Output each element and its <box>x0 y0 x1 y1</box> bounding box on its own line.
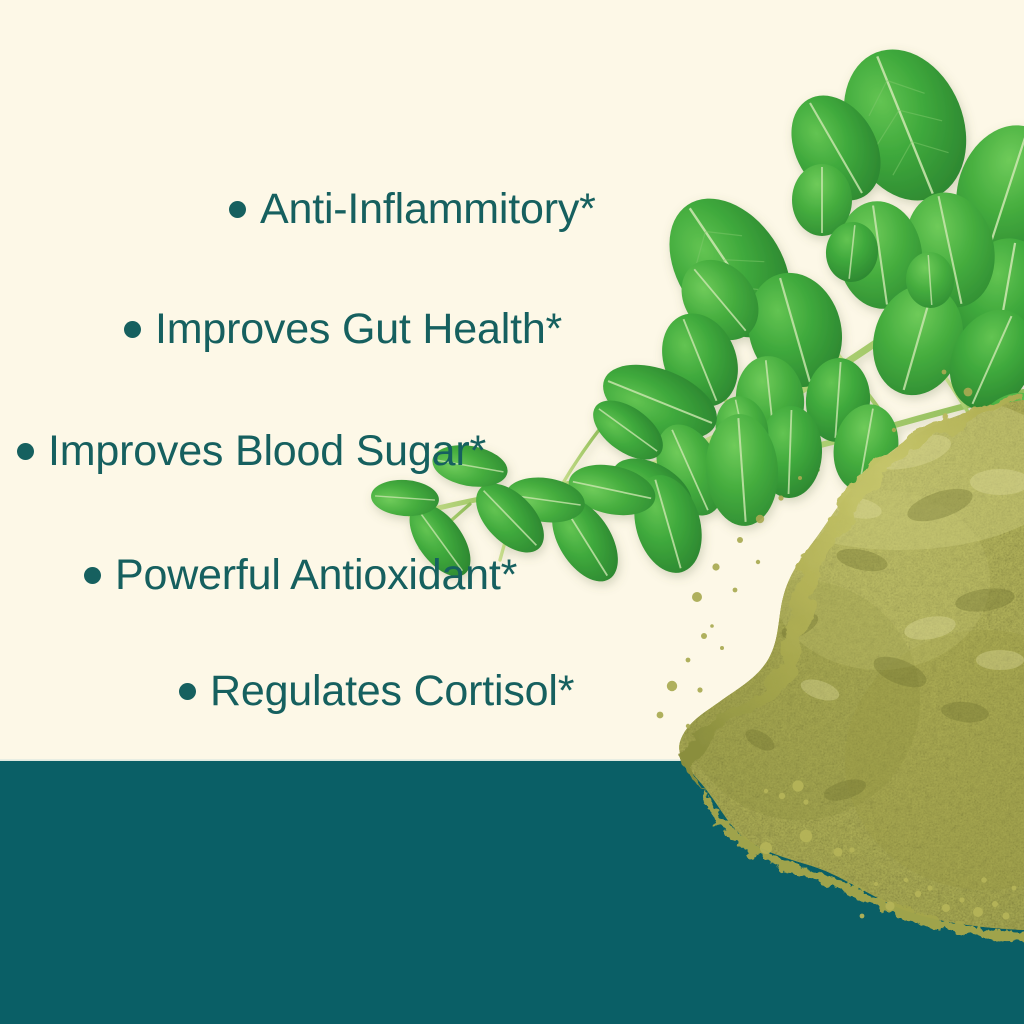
benefit-item-improves-blood-sugar: Improves Blood Sugar* <box>17 427 486 476</box>
benefit-label: Powerful Antioxidant* <box>115 551 517 600</box>
benefit-label: Improves Blood Sugar* <box>48 427 486 476</box>
benefits-list: Anti-Inflammitory* Improves Gut Health* … <box>0 0 720 761</box>
bullet-icon <box>124 321 141 338</box>
benefit-label: Anti-Inflammitory* <box>260 185 596 234</box>
benefit-label: Improves Gut Health* <box>155 305 562 354</box>
bullet-icon <box>84 567 101 584</box>
bullet-icon <box>179 683 196 700</box>
benefit-item-improves-gut-health: Improves Gut Health* <box>124 305 562 354</box>
teal-footer-band <box>0 761 1024 1024</box>
bullet-icon <box>17 443 34 460</box>
benefit-item-regulates-cortisol: Regulates Cortisol* <box>179 667 574 716</box>
benefit-item-anti-inflammitory: Anti-Inflammitory* <box>229 185 596 234</box>
promotional-graphic: Anti-Inflammitory* Improves Gut Health* … <box>0 0 1024 1024</box>
benefit-label: Regulates Cortisol* <box>210 667 574 716</box>
bullet-icon <box>229 201 246 218</box>
benefit-item-powerful-antioxidant: Powerful Antioxidant* <box>84 551 517 600</box>
